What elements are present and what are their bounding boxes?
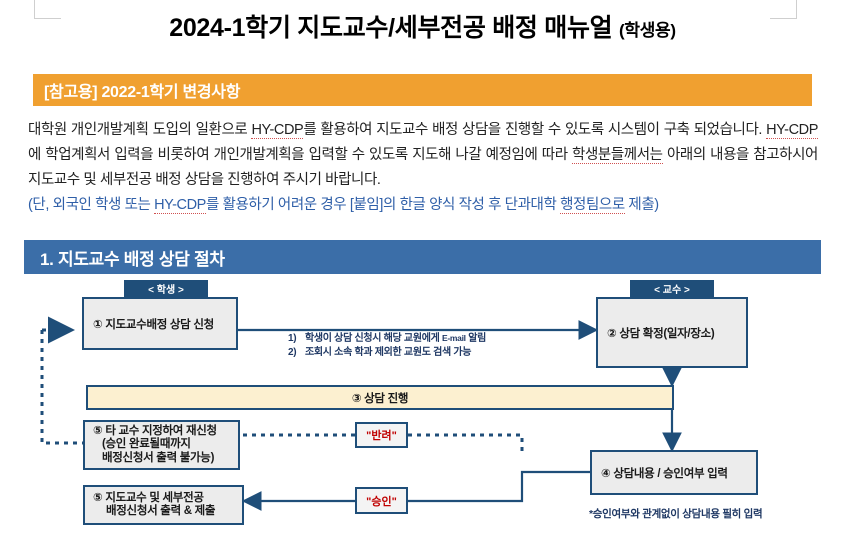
note-text-2: 를 활용하기 어려운 경우 [붙임]의 한글 양식 작성 후 단과대학: [206, 197, 560, 213]
flow-node-reapply-line-2: (승인 완료될때까지: [93, 438, 217, 452]
flow-node-reapply-line-3: 배정신청서 출력 불가능): [93, 452, 217, 466]
flow-footnote: *승인여부와 관계없이 상담내용 필히 입력: [589, 506, 762, 521]
lane-tab-student-label: < 학생 >: [148, 281, 184, 296]
intro-paragraph: 대학원 개인개발계획 도입의 일환으로 HY-CDP를 활용하여 지도교수 배정…: [28, 118, 818, 218]
flow-node-input-consultation-result-label: ④ 상담내용 / 승인여부 입력: [601, 465, 728, 481]
flow-node-confirm-consultation-label: ② 상담 확정(일자/장소): [607, 325, 714, 341]
flow-tag-reject[interactable]: "반려": [355, 422, 408, 448]
flow-node-reapply-text: ⑤ 타 교수 지정하여 재신청 (승인 완료될때까지 배정신청서 출력 불가능): [93, 425, 217, 466]
flow-node-request-advisor-label: ① 지도교수배정 상담 신청: [93, 316, 214, 332]
hycdp-term-2: HY-CDP: [766, 122, 818, 139]
section-header-label: 1. 지도교수 배정 상담 절차: [40, 245, 225, 270]
flow-annotation-item-2: 2)조회시 소속 학과 제외한 교원도 검색 가능: [288, 346, 486, 360]
flow-tag-approve-label: "승인": [366, 493, 397, 509]
flow-node-submit-line-2: 배정신청서 출력 & 제출: [93, 505, 215, 519]
flow-annotation-1-text-b: 알림: [466, 333, 486, 344]
flow-node-input-consultation-result[interactable]: ④ 상담내용 / 승인여부 입력: [590, 450, 758, 495]
students-term: 학생분들께서는: [572, 147, 663, 164]
page-title: 2024-1학기 지도교수/세부전공 배정 매뉴얼 (학생용): [0, 8, 845, 44]
flow-node-print-and-submit[interactable]: ⑤ 지도교수 및 세부전공 배정신청서 출력 & 제출: [83, 485, 244, 525]
flow-annotation-list: 1)학생이 상담 신청시 해당 교원에게 E-mail 알림 2)조회시 소속 …: [288, 331, 486, 360]
lane-tab-student: < 학생 >: [124, 280, 208, 297]
flow-annotation-item-1: 1)학생이 상담 신청시 해당 교원에게 E-mail 알림: [288, 331, 486, 346]
flow-annotation-1-email: E-mail: [442, 333, 466, 343]
flow-node-request-advisor[interactable]: ① 지도교수배정 상담 신청: [82, 297, 238, 350]
flow-node-submit-line-1: ⑤ 지도교수 및 세부전공: [93, 492, 215, 506]
hycdp-term-3: HY-CDP: [154, 197, 206, 214]
lane-tab-professor: < 교수 >: [630, 280, 714, 297]
paragraph-note-line: (단, 외국인 학생 또는 HY-CDP를 활용하기 어려운 경우 [붙임]의 …: [28, 193, 818, 218]
flow-node-confirm-consultation[interactable]: ② 상담 확정(일자/장소): [596, 297, 748, 368]
page-title-suffix: (학생용): [619, 21, 676, 40]
flow-node-submit-text: ⑤ 지도교수 및 세부전공 배정신청서 출력 & 제출: [93, 492, 215, 519]
admin-team-term: 행정팀으로: [560, 197, 625, 214]
note-text-1: (단, 외국인 학생 또는: [28, 197, 154, 213]
hycdp-term-1: HY-CDP: [251, 122, 303, 139]
flow-annotation-2-text: 조회시 소속 학과 제외한 교원도 검색 가능: [305, 347, 471, 358]
flow-node-reapply-line-1: ⑤ 타 교수 지정하여 재신청: [93, 425, 217, 439]
lane-tab-professor-label: < 교수 >: [654, 281, 690, 296]
reference-banner-label: [참고용] 2022-1학기 변경사항: [44, 78, 240, 102]
page-title-main: 2024-1학기 지도교수/세부전공 배정 매뉴얼: [169, 14, 612, 42]
procedure-flowchart: < 학생 > ① 지도교수배정 상담 신청 < 교수 > ② 상담 확정(일자/…: [0, 278, 845, 539]
section-header-procedure: 1. 지도교수 배정 상담 절차: [24, 240, 821, 274]
paragraph-text-1: 대학원 개인개발계획 도입의 일환으로: [28, 122, 251, 138]
flow-annotation-2-number: 2): [288, 346, 305, 360]
flow-tag-approve[interactable]: "승인": [355, 487, 408, 514]
reference-banner: [참고용] 2022-1학기 변경사항: [33, 74, 812, 106]
paragraph-text-3: 에 학업계획서 입력을 비롯하여 개인개발계획을 입력할 수 있도록 지도해 나…: [28, 147, 572, 163]
flow-annotation-1-number: 1): [288, 332, 305, 346]
note-text-3: 제출): [625, 197, 659, 213]
flow-node-consultation-progress[interactable]: ③ 상담 진행: [86, 385, 674, 410]
flow-annotation-1-text-a: 학생이 상담 신청시 해당 교원에게: [305, 333, 442, 344]
paragraph-text-2: 를 활용하여 지도교수 배정 상담을 진행할 수 있도록 시스템이 구축 되었습…: [303, 122, 766, 138]
flow-node-consultation-progress-label: ③ 상담 진행: [352, 390, 408, 406]
flow-tag-reject-label: "반려": [366, 427, 397, 443]
flow-node-reapply-other-professor[interactable]: ⑤ 타 교수 지정하여 재신청 (승인 완료될때까지 배정신청서 출력 불가능): [83, 420, 240, 470]
